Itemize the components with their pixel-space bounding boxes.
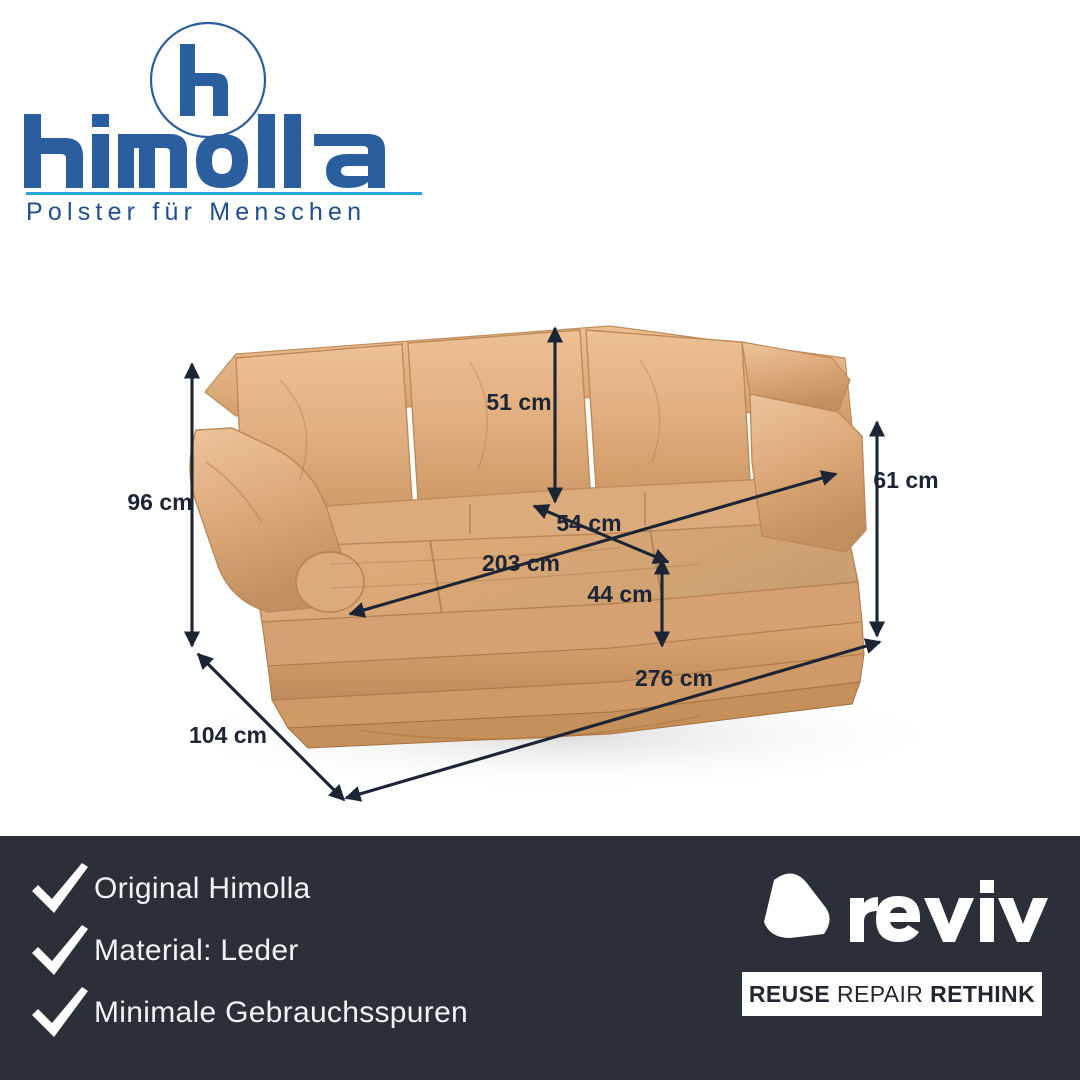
product-photo: 96 cm 51 cm 61 cm 54 cm 203 cm 44 cm 276…	[0, 230, 1080, 830]
brand-tagline: Polster für Menschen	[26, 198, 426, 227]
brand-logo: Polster für Menschen	[14, 16, 434, 226]
dim-label-height: 96 cm	[127, 489, 192, 515]
dim-label-armrest: 61 cm	[873, 467, 938, 493]
revive-tagline-badge: REUSE REPAIR RETHINK	[742, 972, 1042, 1016]
revive-branding: REUSE REPAIR RETHINK	[730, 864, 1050, 1044]
dim-label-total-width: 276 cm	[635, 665, 713, 691]
feature-label: Material: Leder	[94, 934, 299, 968]
revive-tagline: REUSE REPAIR RETHINK	[749, 981, 1035, 1008]
list-item: Minimale Gebrauchsspuren	[28, 982, 668, 1044]
dim-label-depth: 104 cm	[189, 722, 267, 748]
dim-label-seat-depth: 54 cm	[556, 510, 621, 536]
tagline-word-rethink: RETHINK	[930, 981, 1035, 1007]
tagline-word-reuse: REUSE	[749, 981, 830, 1007]
feature-label: Original Himolla	[94, 872, 311, 906]
revive-logo	[730, 864, 1050, 950]
himolla-wordmark	[22, 112, 426, 190]
feature-list: Original Himolla Material: Leder Minimal…	[28, 858, 668, 1044]
feature-label: Minimale Gebrauchsspuren	[94, 996, 468, 1030]
dim-label-backrest: 51 cm	[486, 389, 551, 415]
brand-divider	[26, 192, 422, 195]
check-icon	[28, 861, 94, 917]
footer-bar: Original Himolla Material: Leder Minimal…	[0, 836, 1080, 1080]
product-image-card: Polster für Menschen	[0, 0, 1080, 1080]
check-icon	[28, 985, 94, 1041]
dim-label-seat-height: 44 cm	[587, 581, 652, 607]
dim-label-inner-width: 203 cm	[482, 550, 560, 576]
check-icon	[28, 923, 94, 979]
tagline-word-repair: REPAIR	[837, 981, 923, 1007]
list-item: Original Himolla	[28, 858, 668, 920]
list-item: Material: Leder	[28, 920, 668, 982]
